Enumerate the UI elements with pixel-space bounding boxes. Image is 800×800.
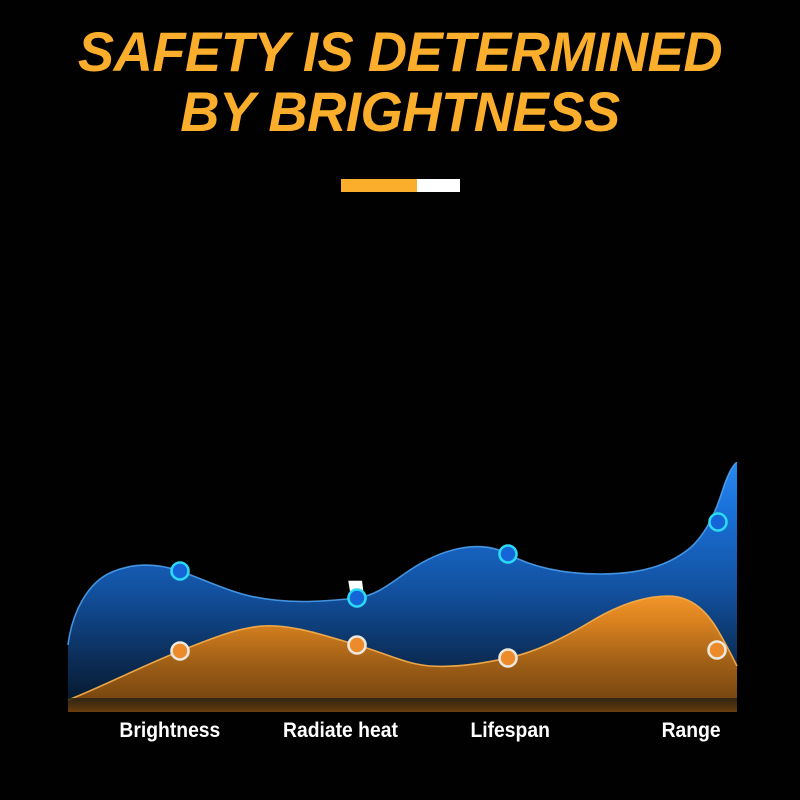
versus-legend: LED light VS Halogen lamp <box>0 285 800 380</box>
divider-secondary-segment <box>417 179 460 192</box>
data-point-halogen-lifespan[interactable] <box>500 650 517 667</box>
data-point-halogen-range[interactable] <box>709 642 726 659</box>
infographic-root: SAFETY IS DETERMINED BY BRIGHTNESS LED l… <box>0 0 800 800</box>
x-label-radiate-heat: Radiate heat <box>283 718 398 744</box>
title-line-1: SAFETY IS DETERMINED <box>12 22 788 82</box>
page-title: SAFETY IS DETERMINED BY BRIGHTNESS <box>0 22 800 142</box>
divider-accent-segment <box>341 179 417 192</box>
x-label-lifespan: Lifespan <box>470 718 549 744</box>
x-label-range: Range <box>662 718 721 744</box>
data-point-led-range[interactable] <box>710 514 727 531</box>
data-point-led-brightness[interactable] <box>172 563 189 580</box>
data-point-led-lifespan[interactable] <box>500 546 517 563</box>
chart-x-axis-labels: Brightness Radiate heat Lifespan Range <box>0 712 800 752</box>
chart-canvas <box>0 462 800 732</box>
data-point-halogen-brightness[interactable] <box>172 643 189 660</box>
title-divider <box>341 179 460 192</box>
chart-baseline-glow <box>68 698 737 712</box>
x-label-brightness: Brightness <box>119 718 220 744</box>
comparison-area-chart <box>0 462 800 732</box>
data-point-led-radiate-heat[interactable] <box>349 590 366 607</box>
title-line-2: BY BRIGHTNESS <box>12 82 788 142</box>
data-point-halogen-radiate-heat[interactable] <box>349 637 366 654</box>
